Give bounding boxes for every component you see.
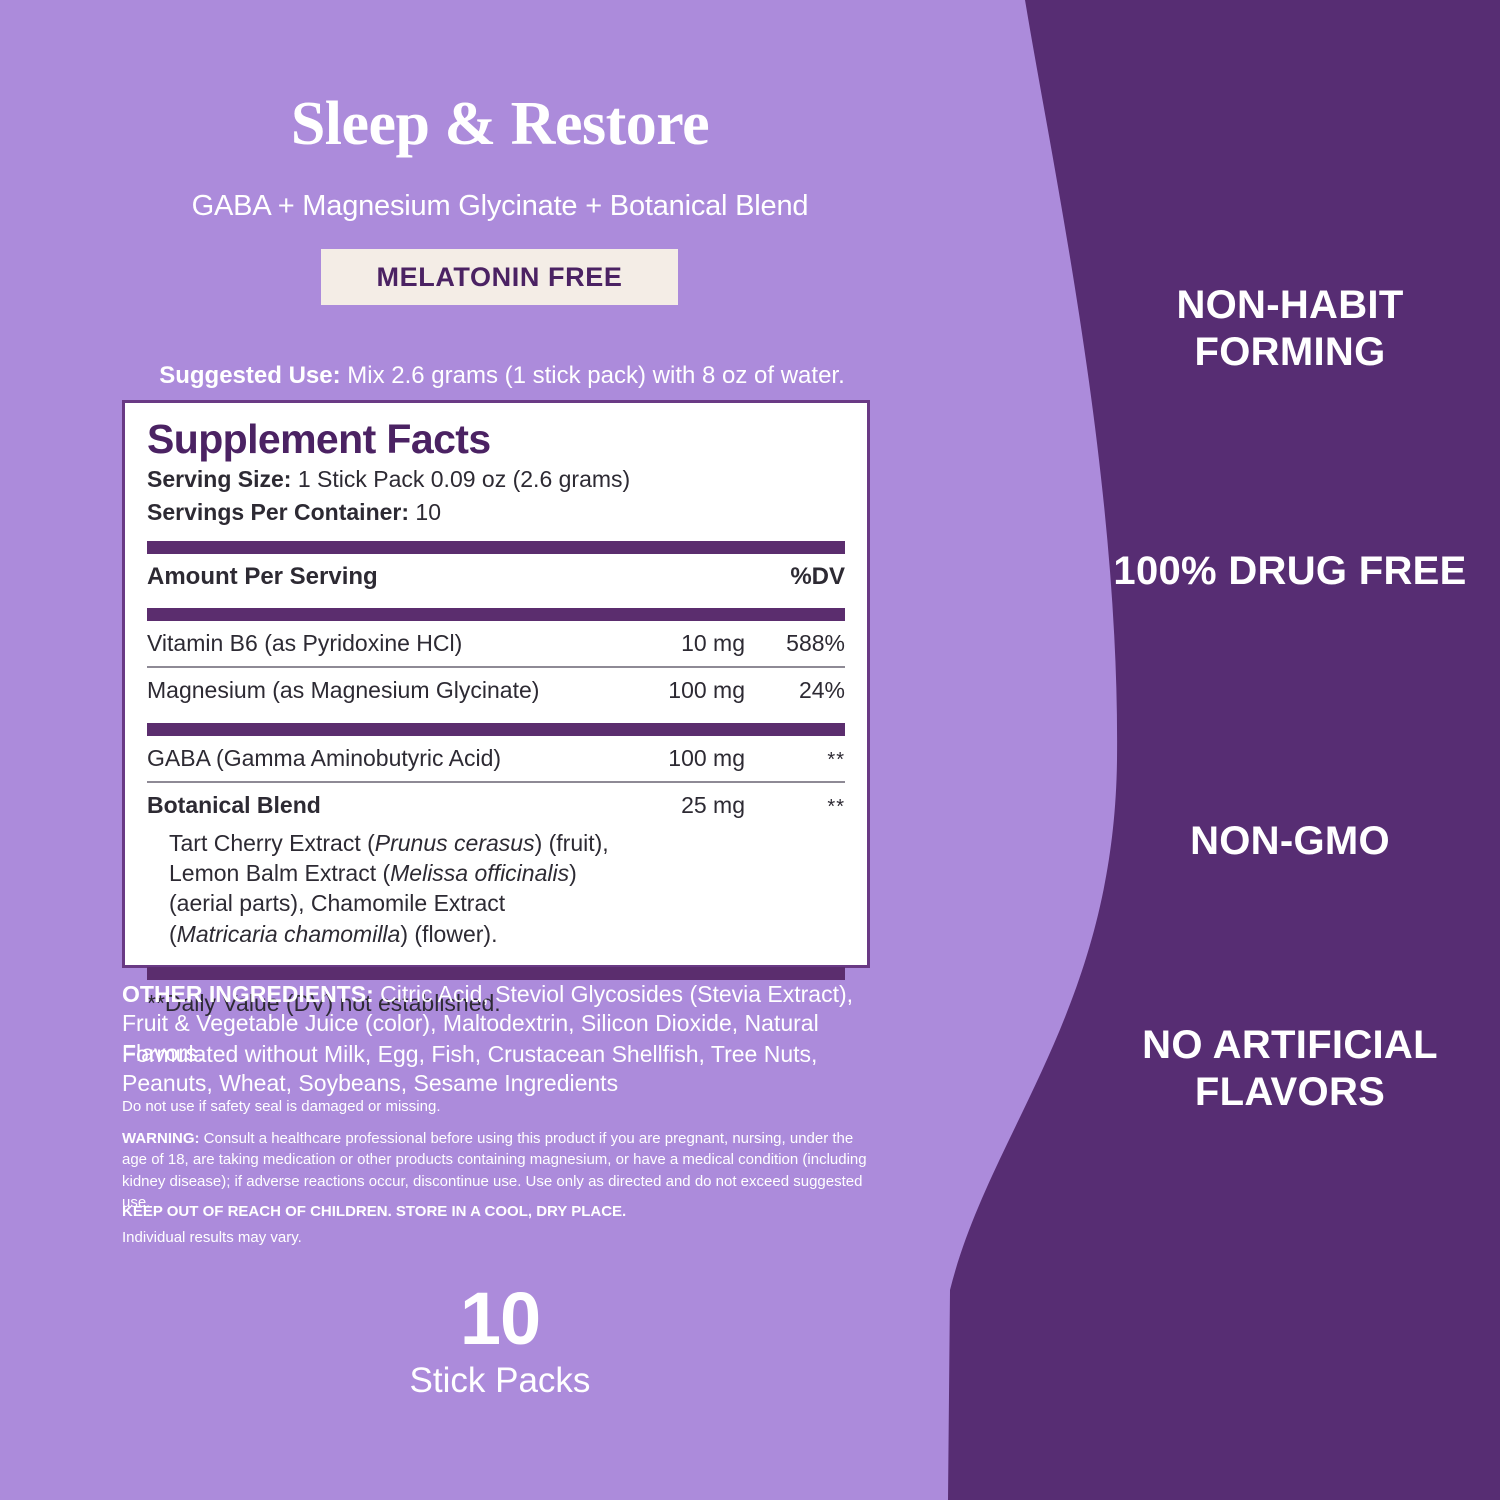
- nutrient-dv: 24%: [759, 677, 845, 704]
- warning-label: WARNING:: [122, 1130, 200, 1147]
- formulated-without-paragraph: Formulated without Milk, Egg, Fish, Crus…: [122, 1040, 874, 1099]
- supplement-facts-panel: Supplement Facts Serving Size: 1 Stick P…: [122, 400, 870, 968]
- suggested-use-text: Mix 2.6 grams (1 stick pack) with 8 oz o…: [341, 362, 845, 389]
- blend-line-2b: ): [569, 860, 577, 886]
- warning-paragraph: WARNING: Consult a healthcare profession…: [122, 1128, 874, 1213]
- nutrient-name: Magnesium (as Magnesium Glycinate): [147, 677, 575, 704]
- divider-bar-top: [147, 541, 845, 554]
- nutrient-name: Vitamin B6 (as Pyridoxine HCl): [147, 630, 575, 657]
- nutrient-amount: 10 mg: [575, 630, 759, 657]
- dv-header: %DV: [790, 563, 845, 591]
- blend-line-1a: Tart Cherry Extract (: [169, 830, 375, 856]
- table-header-row: Amount Per Serving %DV: [147, 554, 845, 598]
- botanical-blend-detail: Tart Cherry Extract (Prunus cerasus) (fr…: [147, 828, 845, 957]
- product-subtitle: GABA + Magnesium Glycinate + Botanical B…: [0, 190, 1000, 223]
- blend-latin-1: Prunus cerasus: [375, 830, 535, 856]
- nutrient-name: Botanical Blend: [147, 792, 575, 819]
- claim-drug-free: 100% DRUG FREE: [1100, 548, 1480, 595]
- table-row: Botanical Blend 25 mg **: [147, 783, 845, 828]
- blend-line-4a: (: [169, 921, 177, 947]
- claim-non-gmo: NON-GMO: [1100, 818, 1480, 865]
- claim-no-artificial-flavors: NO ARTIFICIAL FLAVORS: [1100, 1022, 1480, 1116]
- supplement-facts-title: Supplement Facts: [147, 417, 845, 462]
- table-row: Vitamin B6 (as Pyridoxine HCl) 10 mg 588…: [147, 621, 845, 668]
- product-label-page: Sleep & Restore GABA + Magnesium Glycina…: [0, 0, 1500, 1500]
- other-ingredients-label: OTHER INGREDIENTS:: [122, 981, 374, 1007]
- nutrient-dv: 588%: [759, 630, 845, 657]
- nutrient-amount: 100 mg: [575, 677, 759, 704]
- melatonin-free-badge-label: MELATONIN FREE: [377, 262, 623, 293]
- amount-per-serving-header: Amount Per Serving: [147, 563, 378, 591]
- pack-count-number: 10: [280, 1282, 720, 1356]
- blend-latin-3: Matricaria chamomilla: [177, 921, 401, 947]
- servings-per-container-label: Servings Per Container:: [147, 499, 409, 525]
- divider-bar-bottom: [147, 967, 845, 980]
- safety-seal-note: Do not use if safety seal is damaged or …: [122, 1097, 874, 1117]
- left-content-column: Sleep & Restore GABA + Magnesium Glycina…: [0, 0, 1000, 1500]
- blend-line-2a: Lemon Balm Extract (: [169, 860, 390, 886]
- servings-per-container-line: Servings Per Container: 10: [147, 497, 845, 528]
- keep-out-of-reach-note: KEEP OUT OF REACH OF CHILDREN. STORE IN …: [122, 1203, 874, 1220]
- results-may-vary-note: Individual results may vary.: [122, 1229, 874, 1246]
- serving-size-value: 1 Stick Pack 0.09 oz (2.6 grams): [291, 466, 630, 492]
- serving-size-label: Serving Size:: [147, 466, 291, 492]
- pack-count-label: Stick Packs: [280, 1363, 720, 1398]
- warning-body: Consult a healthcare professional before…: [122, 1130, 867, 1211]
- claim-non-habit-forming: NON-HABIT FORMING: [1100, 282, 1480, 376]
- blend-line-3: (aerial parts), Chamomile Extract: [169, 890, 505, 916]
- servings-per-container-value: 10: [409, 499, 441, 525]
- melatonin-free-badge: MELATONIN FREE: [321, 249, 678, 305]
- nutrient-amount: 100 mg: [575, 745, 759, 772]
- table-row: GABA (Gamma Aminobutyric Acid) 100 mg **: [147, 736, 845, 783]
- suggested-use-label: Suggested Use:: [159, 362, 340, 389]
- blend-line-1b: ) (fruit),: [535, 830, 609, 856]
- nutrient-dv: **: [759, 796, 845, 819]
- page-title: Sleep & Restore: [0, 92, 1000, 157]
- divider-bar-under-header: [147, 608, 845, 621]
- suggested-use-line: Suggested Use: Mix 2.6 grams (1 stick pa…: [122, 362, 882, 390]
- table-row: Magnesium (as Magnesium Glycinate) 100 m…: [147, 668, 845, 713]
- nutrient-name: GABA (Gamma Aminobutyric Acid): [147, 745, 575, 772]
- serving-size-line: Serving Size: 1 Stick Pack 0.09 oz (2.6 …: [147, 464, 845, 495]
- nutrient-amount: 25 mg: [575, 792, 759, 819]
- nutrient-dv: **: [759, 749, 845, 772]
- divider-bar-mid: [147, 723, 845, 736]
- blend-line-4b: ) (flower).: [400, 921, 497, 947]
- blend-latin-2: Melissa officinalis: [390, 860, 569, 886]
